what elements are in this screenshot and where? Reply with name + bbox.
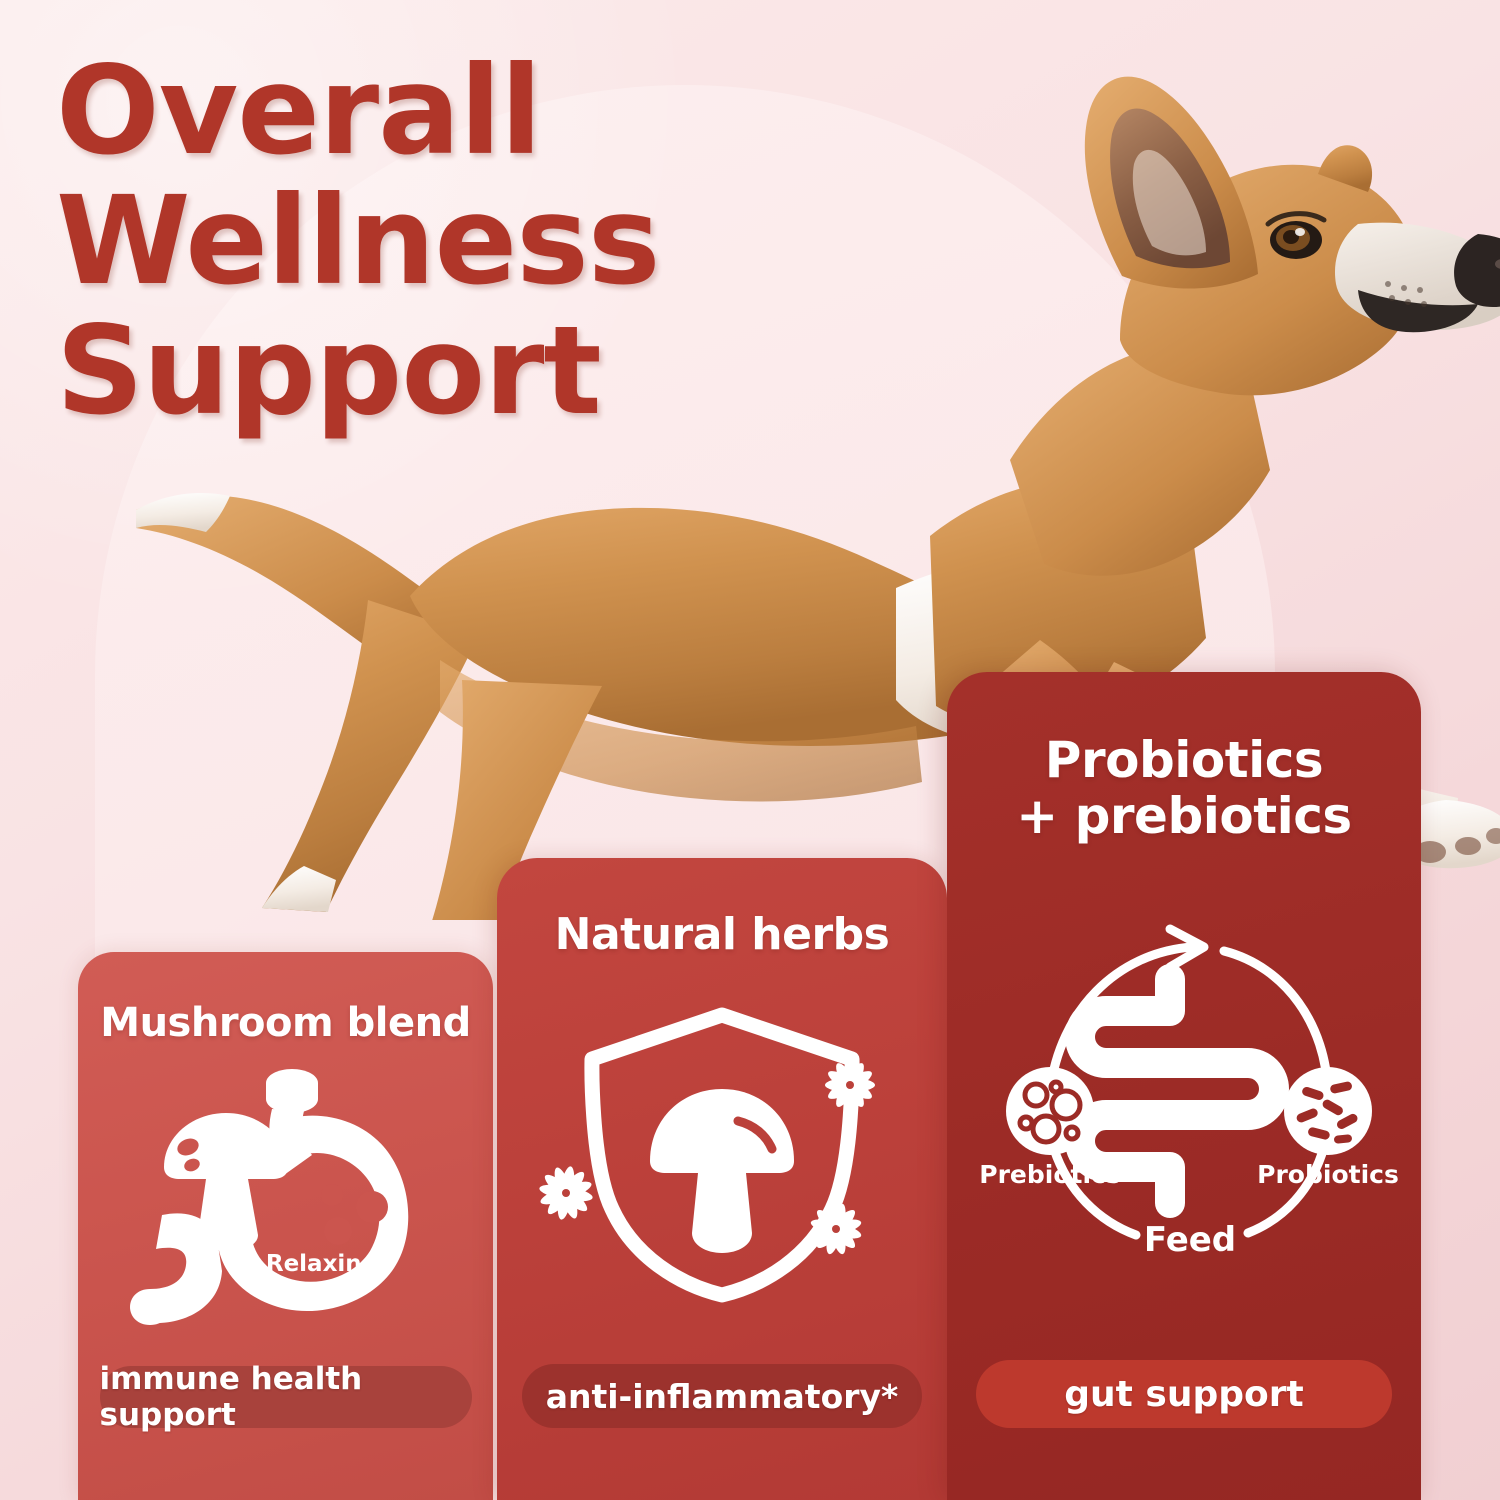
feature-card-natural-herbs[interactable]: Natural herbs [497, 858, 947, 1500]
feature-card-probiotics[interactable]: Probiotics + prebiotics [947, 672, 1421, 1500]
feature-card-mushroom-blend[interactable]: Mushroom blend [78, 952, 493, 1500]
feature-card-badge[interactable]: immune health support [100, 1366, 472, 1428]
gut-cycle-icon: Prebiotics Probiotics Feed [964, 915, 1404, 1265]
feature-card-title: Probiotics + prebiotics [1016, 732, 1351, 844]
icon-caption: Relaxing [265, 1251, 377, 1277]
feature-card-badge[interactable]: anti-inflammatory* [522, 1364, 922, 1428]
feature-card-icon-area: Prebiotics Probiotics Feed [947, 844, 1421, 1360]
feature-card-title: Mushroom blend [100, 1000, 470, 1046]
mushroom-glyph [650, 1089, 794, 1253]
feature-card-title: Natural herbs [555, 910, 890, 960]
daisy-flower-icon [825, 1060, 875, 1110]
page-title-line-3: Support [56, 306, 659, 436]
stomach-mushroom-icon: Relaxing [126, 1059, 446, 1339]
daisy-flower-icon [538, 1165, 594, 1221]
feature-card-title-line: + prebiotics [1016, 788, 1351, 844]
probiotics-circle-icon [1284, 1067, 1372, 1155]
shield-mushroom-flowers-icon [532, 993, 912, 1313]
feature-card-title-line: Mushroom blend [100, 1000, 470, 1046]
page-title-line-2: Wellness [56, 176, 659, 306]
icon-label-prebiotics: Prebiotics [979, 1160, 1120, 1189]
feature-card-icon-area [497, 960, 947, 1364]
page-title-line-1: Overall [56, 46, 659, 176]
prebiotics-circle-icon [1006, 1067, 1094, 1155]
feature-card-badge[interactable]: gut support [976, 1360, 1392, 1428]
page-title: Overall Wellness Support [56, 46, 659, 436]
feature-card-icon-area: Relaxing [78, 1046, 493, 1366]
icon-label-probiotics: Probiotics [1257, 1160, 1399, 1189]
promo-banner: Overall Wellness Support [0, 0, 1500, 1500]
feature-card-title-line: Natural herbs [555, 910, 890, 960]
daisy-flower-icon [809, 1202, 863, 1256]
feature-card-title-line: Probiotics [1016, 732, 1351, 788]
icon-label-feed: Feed [1144, 1220, 1236, 1260]
